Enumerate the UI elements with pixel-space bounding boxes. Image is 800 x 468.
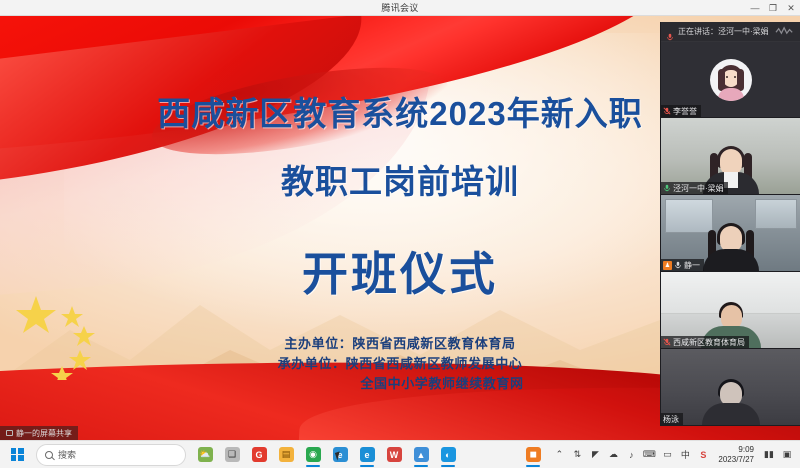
participant-tile[interactable]: ♟ 静一 xyxy=(661,195,800,272)
mic-muted-icon xyxy=(663,107,671,115)
participant-name: 杨泳 xyxy=(663,414,679,425)
participant-badge: ♟ 静一 xyxy=(661,259,704,271)
window-title: 腾讯会议 xyxy=(381,1,418,14)
participant-name: 静一 xyxy=(684,260,700,271)
wps-office-icon[interactable]: W xyxy=(381,442,407,468)
chrome-browser-icon[interactable]: ◉ xyxy=(300,442,326,468)
maximize-button[interactable]: ❐ xyxy=(764,0,782,16)
participant-rail[interactable]: 正在讲话：泾河一中·梁娟 xyxy=(660,22,800,426)
active-speaker-label: 正在讲话：泾河一中·梁娟 xyxy=(678,26,769,37)
notification-icon[interactable]: ▮▮ xyxy=(762,445,776,465)
windows-start-icon[interactable] xyxy=(0,441,34,468)
window-titlebar: 腾讯会议 — ❐ ✕ xyxy=(0,0,800,16)
360-browser-icon[interactable]: G xyxy=(246,442,272,468)
participant-badge: 西咸新区教育体育局 xyxy=(661,336,749,348)
audio-wave-icon xyxy=(775,26,795,37)
participant-badge: 李誉誉 xyxy=(661,105,701,117)
mic-active-icon xyxy=(663,184,671,192)
search-icon xyxy=(45,451,53,459)
input-method-icon[interactable]: ⌨ xyxy=(642,445,656,465)
clock-time: 9:09 xyxy=(718,445,754,455)
search-placeholder: 搜索 xyxy=(58,448,76,461)
window-controls: — ❐ ✕ xyxy=(746,0,800,16)
mic-muted-icon xyxy=(663,338,671,346)
screen-share-indicator: 静一的屏幕共享 xyxy=(0,426,78,440)
windows-taskbar[interactable]: 搜索 ⛅ ❑ G ▤ ◉ e e W ▲ ◐ ◼ ⌃ ⇅ ◤ ☁ ♪ ⌨ ▭ 中… xyxy=(0,440,800,468)
file-explorer-icon[interactable]: ▤ xyxy=(273,442,299,468)
mic-tray-icon[interactable]: ♪ xyxy=(624,445,638,465)
screen-share-label: 静一的屏幕共享 xyxy=(16,428,72,439)
microsoft-edge-icon[interactable]: e xyxy=(354,442,380,468)
participant-tile[interactable]: 西咸新区教育体育局 xyxy=(661,272,800,349)
taskbar-app-icons: ⛅ ❑ G ▤ ◉ e e W ▲ ◐ xyxy=(192,442,461,468)
speaking-mic-icon xyxy=(666,28,674,36)
chinese-ime-icon[interactable]: 中 xyxy=(678,445,692,465)
host-badge-icon: ♟ xyxy=(663,261,672,270)
participant-name: 李誉誉 xyxy=(673,106,697,117)
taskbar-clock[interactable]: 9:09 2023/7/27 xyxy=(714,445,758,465)
participant-name: 泾河一中·梁娟 xyxy=(673,183,724,194)
system-tray: ◼ ⌃ ⇅ ◤ ☁ ♪ ⌨ ▭ 中 S 9:09 2023/7/27 ▮▮ ▣ xyxy=(520,441,800,468)
participant-tile[interactable]: 杨泳 xyxy=(661,349,800,426)
meeting-app-icon[interactable]: ▲ xyxy=(408,442,434,468)
participant-tile[interactable]: 李誉誉 xyxy=(661,42,800,118)
participant-badge: 泾河一中·梁娟 xyxy=(661,182,728,194)
mic-muted-icon xyxy=(674,261,682,269)
weather-widget-icon[interactable]: ⛅ xyxy=(192,442,218,468)
equalizer-icon[interactable]: ⇅ xyxy=(570,445,584,465)
meeting-window: 腾讯会议 — ❐ ✕ xyxy=(0,0,800,468)
task-view-icon[interactable]: ❑ xyxy=(219,442,245,468)
battery-icon[interactable]: ▭ xyxy=(660,445,674,465)
close-button[interactable]: ✕ xyxy=(782,0,800,16)
search-input[interactable]: 搜索 xyxy=(36,444,186,466)
show-desktop-icon[interactable]: ▣ xyxy=(780,445,794,465)
active-speaker-bar: 正在讲话：泾河一中·梁娟 xyxy=(661,22,800,42)
wifi-icon[interactable]: ◤ xyxy=(588,445,602,465)
chevron-up-icon[interactable]: ⌃ xyxy=(552,445,566,465)
participant-name: 西咸新区教育体育局 xyxy=(673,337,745,348)
sogou-ime-icon[interactable]: S xyxy=(696,445,710,465)
flipped-app-icon[interactable]: ◼ xyxy=(520,442,546,468)
tencent-meeting-icon[interactable]: ◐ xyxy=(435,442,461,468)
screen-share-icon xyxy=(6,430,13,436)
cloud-icon[interactable]: ☁ xyxy=(606,445,620,465)
participant-tile[interactable]: 泾河一中·梁娟 xyxy=(661,118,800,195)
minimize-button[interactable]: — xyxy=(746,0,764,16)
clock-date: 2023/7/27 xyxy=(718,455,754,465)
participant-badge: 杨泳 xyxy=(661,413,683,425)
